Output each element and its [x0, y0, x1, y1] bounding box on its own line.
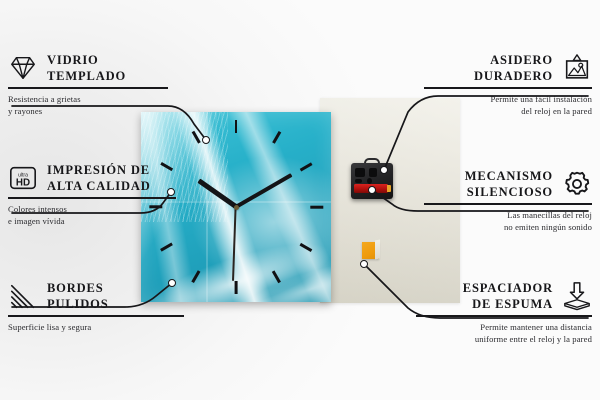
clock-tick — [272, 131, 281, 144]
feature-subtitle: Permite mantener una distancia uniforme … — [377, 321, 592, 345]
clock-center-pin — [234, 205, 239, 210]
clock-second-hand — [233, 207, 237, 281]
diagonal-lines-icon — [8, 281, 38, 311]
feature-silent-mechanism: MECANISMO SILENCIOSO Las manecillas del … — [377, 168, 592, 233]
arrow-onto-layers-icon — [562, 281, 592, 311]
feature-divider — [8, 315, 184, 317]
clock-tick — [299, 243, 312, 252]
feature-title: MECANISMO SILENCIOSO — [465, 168, 553, 200]
feature-subtitle: Resistencia a grietas y rayones — [8, 93, 223, 117]
feature-title: ESPACIADOR DE ESPUMA — [463, 280, 553, 312]
feature-tempered-glass: VIDRIO TEMPLADO Resistencia a grietas y … — [8, 52, 223, 117]
feature-subtitle: Las manecillas del reloj no emiten ningú… — [377, 209, 592, 233]
feature-durable-hanger: ASIDERO DURADERO Permite una fácil insta… — [377, 52, 592, 117]
feature-title: VIDRIO TEMPLADO — [47, 52, 126, 84]
feature-subtitle: Superficie lisa y segura — [8, 321, 223, 333]
connector-dot-tempered-glass — [202, 136, 210, 144]
ultra-hd-icon: ultra HD — [8, 163, 38, 193]
feature-divider — [8, 197, 176, 199]
foam-spacer-piece — [362, 242, 379, 259]
connector-dot-silent-mechanism — [368, 186, 376, 194]
feature-divider — [424, 87, 592, 89]
clock-tick — [160, 243, 173, 252]
feature-title: BORDES PULIDOS — [47, 280, 109, 312]
feature-title: ASIDERO DURADERO — [474, 52, 553, 84]
clock-tick — [235, 281, 238, 294]
clock-tick — [310, 206, 323, 209]
feature-hd-print: ultra HD IMPRESIÓN DE ALTA CALIDAD Color… — [8, 162, 223, 227]
gear-icon — [562, 169, 592, 199]
clock-minute-hand — [235, 173, 293, 209]
infographic-stage: VIDRIO TEMPLADO Resistencia a grietas y … — [0, 0, 600, 400]
feature-divider — [424, 203, 592, 205]
clock-tick — [299, 162, 312, 171]
feature-subtitle: Colores intensos e imagen vívida — [8, 203, 223, 227]
feature-title: IMPRESIÓN DE ALTA CALIDAD — [47, 162, 151, 194]
connector-dot-foam-spacer — [360, 260, 368, 268]
diamond-icon — [8, 53, 38, 83]
clock-tick — [191, 131, 200, 144]
clock-tick — [272, 270, 281, 283]
feature-divider — [8, 87, 168, 89]
feature-polished-edges: BORDES PULIDOS Superficie lisa y segura — [8, 280, 223, 333]
feature-divider — [416, 315, 592, 317]
clock-tick — [235, 120, 238, 133]
framed-picture-icon — [562, 53, 592, 83]
feature-foam-spacer: ESPACIADOR DE ESPUMA Permite mantener un… — [377, 280, 592, 345]
feature-subtitle: Permite una fácil instalación del reloj … — [377, 93, 592, 117]
svg-text:HD: HD — [16, 178, 30, 189]
